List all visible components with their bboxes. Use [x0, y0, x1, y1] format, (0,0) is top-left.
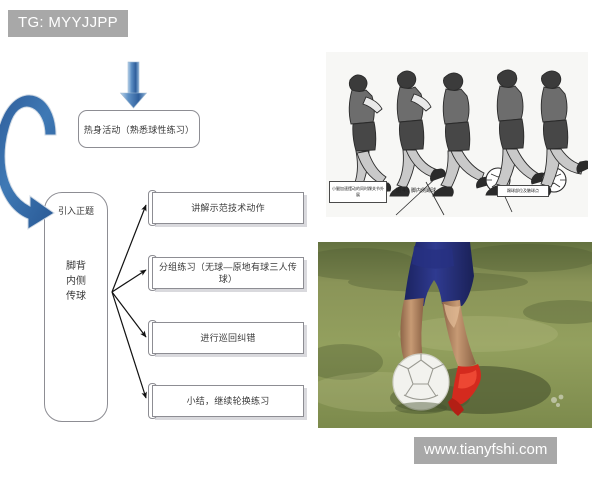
technique-photo	[318, 242, 592, 428]
figure-caption-left: 小腿加速摆动的同时踝关节外展	[329, 181, 387, 203]
flow-box-warmup: 热身活动（熟悉球性练习）	[78, 110, 200, 148]
flow-box-step-2: 分组练习（无球—原地有球三人传球）	[152, 257, 304, 289]
soccer-ball	[393, 354, 449, 410]
arrow-to-step-2	[112, 270, 146, 292]
arrow-to-step-3	[112, 292, 146, 337]
arrow-to-step-4	[112, 292, 146, 398]
site-watermark: www.tianyfshi.com	[414, 437, 557, 464]
arrow-to-step-1	[112, 205, 146, 292]
arrow-fan-group	[112, 205, 146, 398]
flow-box-main-topic: 引入正题 脚背内侧传球	[44, 192, 108, 422]
photo-content	[318, 242, 592, 428]
arrow-down-blue	[121, 62, 147, 108]
main-topic-lead: 引入正题	[58, 205, 94, 217]
figure-caption-right: 踢球部位及触球点	[497, 185, 549, 197]
main-topic-title: 脚背内侧传球	[63, 259, 89, 304]
flow-box-step-4: 小结，继续轮换练习	[152, 385, 304, 417]
flow-box-step-1: 讲解示范技术动作	[152, 192, 304, 224]
figure-number-caption: 图 4-1 脚内侧踢球	[396, 187, 436, 194]
flow-box-step-3: 进行巡回纠错	[152, 322, 304, 354]
tag-badge: TG: MYYJJPP	[8, 10, 128, 37]
screenshot-canvas: 热身活动（熟悉球性练习） 引入正题 脚背内侧传球 讲解示范技术动作 分组练习（无…	[0, 0, 600, 480]
